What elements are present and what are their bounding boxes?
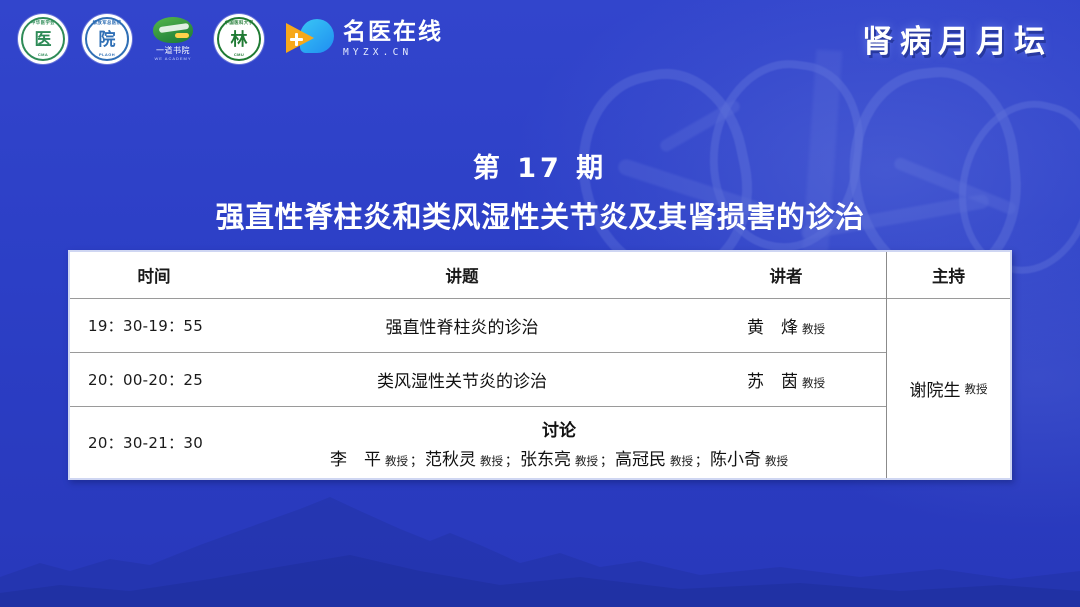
seal-2-ring-top: 解放军总医院 [87,21,127,25]
discussion-participant-name: 高冠民 [615,450,666,470]
program-brand-title: 肾病月月坛 [862,16,1052,61]
page-title: 强直性脊柱炎和类风湿性关节炎及其肾损害的诊治 [0,194,1080,236]
discussion-separator: ； [410,454,423,469]
row-1-speaker-rank: 教授 [802,322,825,336]
schedule-main-columns: 时间 讲题 讲者 19：30-19：55 强直性脊柱炎的诊治 黄 烽教授 20：… [70,252,887,478]
discussion-participant-rank: 教授 [480,454,503,468]
discussion-participant-name: 范秋灵 [425,450,476,470]
row-1-speaker-name: 黄 烽 [747,318,798,338]
row-1-topic: 强直性脊柱炎的诊治 [386,318,539,338]
seal-logo-4-icon: 中国医科大学 林 CMU [214,14,264,64]
host-name: 谢院生 [910,376,961,401]
discussion-participants: 李 平教授；范秋灵教授；张东亮教授；高冠民教授；陈小奇教授 [330,445,788,470]
host-column: 主持 谢院生教授 [887,252,1010,478]
seal-2-glyph: 院 [99,31,116,48]
seal-logo-3-icon: 一道书院 WE ACADEMY [146,16,200,62]
mountain-silhouette [0,467,1080,607]
row-2-time: 20：00-20：25 [88,371,203,389]
myzx-name-cn: 名医在线 [343,21,443,44]
seal-4-ring-top: 中国医科大学 [219,21,259,25]
discussion-separator: ； [695,454,708,469]
myzx-name-en: MYZX.CN [343,48,443,58]
column-header-topic: 讲题 [446,267,479,286]
seal-logo-1-icon: 中华医学会 医 CMA [18,14,68,64]
table-header-row: 时间 讲题 讲者 [70,252,886,299]
schedule-table: 时间 讲题 讲者 19：30-19：55 强直性脊柱炎的诊治 黄 烽教授 20：… [68,250,1012,480]
column-header-host: 主持 [932,263,965,287]
myzx-logo[interactable]: 名医在线 MYZX.CN [286,18,443,60]
discussion-participant-name: 张东亮 [520,450,571,470]
row-2-speaker-name: 苏 茵 [747,372,798,392]
seal-3-caption-en: WE ACADEMY [154,56,191,61]
seal-logo-2-icon: 解放军总医院 院 PLAGH [82,14,132,64]
seal-2-ring-bottom: PLAGH [87,53,127,57]
discussion-participant-name: 李 平 [330,450,381,470]
slide-root: 中华医学会 医 CMA 解放军总医院 院 PLAGH 一道书院 WE ACADE… [0,0,1080,607]
plus-icon [290,33,303,46]
discussion-separator: ； [505,454,518,469]
column-header-speaker: 讲者 [770,267,803,286]
seal-4-ring-bottom: CMU [219,53,259,57]
host-rank: 教授 [965,381,988,397]
seal-3-caption: 一道书院 [156,45,190,56]
discussion-label: 讨论 [542,416,576,441]
row-2-speaker-rank: 教授 [802,376,825,390]
seal-4-glyph: 林 [231,31,248,48]
discussion-row: 20：30-21：30 讨论 李 平教授；范秋灵教授；张东亮教授；高冠民教授；陈… [70,407,886,478]
discussion-participant-rank: 教授 [575,454,598,468]
discussion-separator: ； [600,454,613,469]
top-logo-bar: 中华医学会 医 CMA 解放军总医院 院 PLAGH 一道书院 WE ACADE… [0,0,1080,80]
table-row: 20：00-20：25 类风湿性关节炎的诊治 苏 茵教授 [70,353,886,407]
discussion-participant-name: 陈小奇 [710,450,761,470]
myzx-play-bubble-icon [286,18,334,60]
row-1-time: 19：30-19：55 [88,317,203,335]
table-row: 19：30-19：55 强直性脊柱炎的诊治 黄 烽教授 [70,299,886,353]
logo-group: 中华医学会 医 CMA 解放军总医院 院 PLAGH 一道书院 WE ACADE… [18,14,443,64]
column-header-time: 时间 [138,267,171,286]
seal-1-ring-bottom: CMA [23,53,63,57]
discussion-participant-rank: 教授 [670,454,693,468]
discussion-participant-rank: 教授 [385,454,408,468]
host-cell: 谢院生教授 [887,299,1010,478]
title-block: 第 17 期 强直性脊柱炎和类风湿性关节炎及其肾损害的诊治 [0,146,1080,236]
discussion-participant-rank: 教授 [765,454,788,468]
row-2-topic: 类风湿性关节炎的诊治 [377,372,547,392]
seal-1-ring-top: 中华医学会 [23,21,63,25]
issue-number: 第 17 期 [0,146,1080,185]
discussion-time: 20：30-21：30 [88,434,203,452]
seal-1-glyph: 医 [35,31,52,48]
